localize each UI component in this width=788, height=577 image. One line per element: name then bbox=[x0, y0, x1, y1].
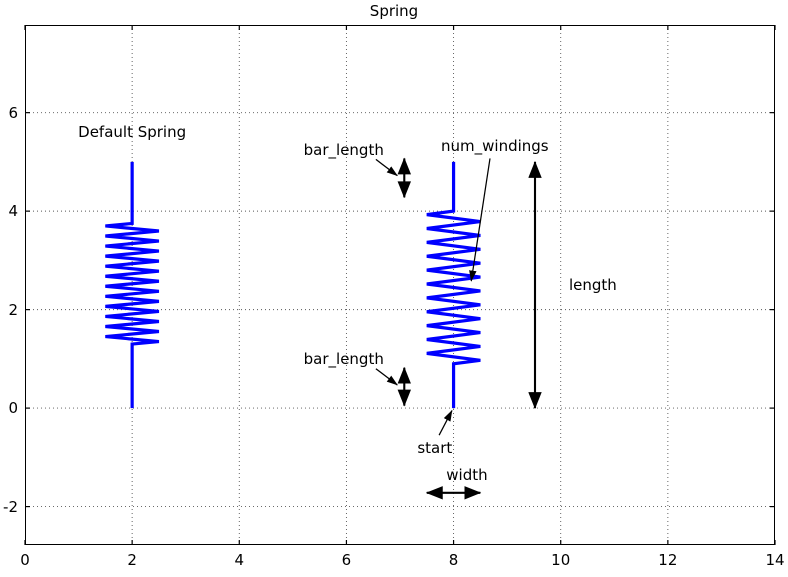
y-tick-label: 6 bbox=[8, 104, 18, 122]
annotation-num-windings: num_windings bbox=[441, 137, 549, 155]
x-tick-label: 6 bbox=[342, 551, 352, 569]
chart-drawing-layer bbox=[0, 0, 788, 577]
annotation-bar-length-top: bar_length bbox=[304, 141, 384, 159]
y-tick-label: -2 bbox=[3, 498, 18, 516]
x-tick-label: 10 bbox=[551, 551, 570, 569]
figure-canvas: Spring 02468101214-20246 Default Springb… bbox=[0, 0, 788, 577]
x-tick-label: 12 bbox=[658, 551, 677, 569]
annotation-length: length bbox=[569, 276, 617, 294]
x-tick-label: 4 bbox=[235, 551, 245, 569]
x-tick-label: 2 bbox=[127, 551, 137, 569]
annotation-start: start bbox=[417, 439, 452, 457]
grid-lines bbox=[25, 25, 775, 545]
x-tick-label: 14 bbox=[765, 551, 784, 569]
annotation-bar-length-bot: bar_length bbox=[304, 350, 384, 368]
axis-tick-marks bbox=[25, 25, 775, 545]
x-tick-label: 0 bbox=[20, 551, 30, 569]
spring-curves bbox=[105, 162, 480, 408]
annotation-arrows bbox=[376, 158, 535, 492]
y-tick-label: 2 bbox=[8, 301, 18, 319]
y-tick-label: 0 bbox=[8, 399, 18, 417]
x-tick-label: 8 bbox=[449, 551, 459, 569]
y-tick-label: 4 bbox=[8, 202, 18, 220]
annotation-width: width bbox=[446, 466, 487, 484]
annotation-default-spring: Default Spring bbox=[78, 123, 186, 141]
